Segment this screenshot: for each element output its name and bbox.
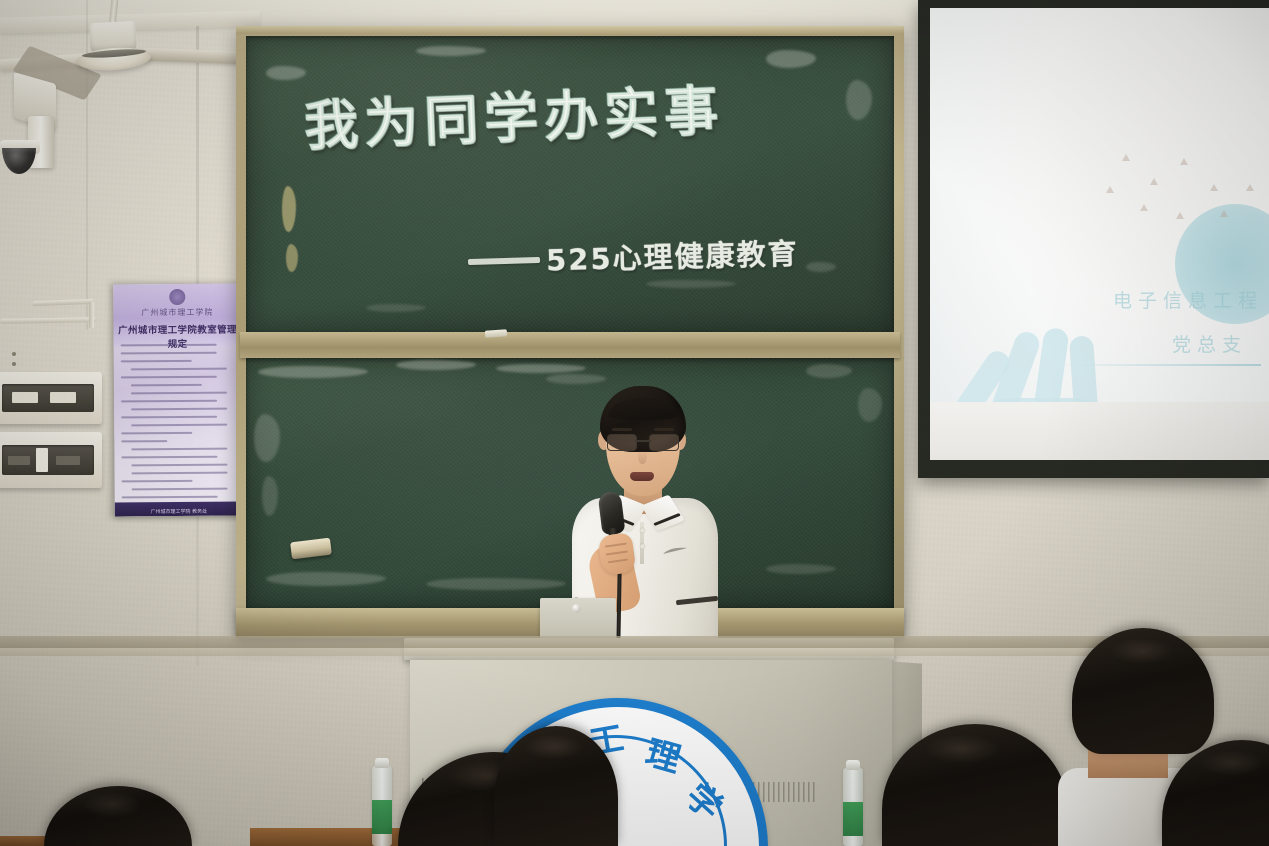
slide-bottom-band	[930, 402, 1269, 460]
podium-knob	[572, 604, 581, 613]
wall-poster-classroom-rules: 广州城市理工学院 广州城市理工学院教室管理规定 广州城市理工学院 教务处	[113, 284, 243, 517]
shirt-button	[640, 528, 645, 533]
blackboard-title-chalk: 我为同学办实事	[303, 66, 726, 161]
eyeglass-bridge	[635, 440, 651, 442]
blackboard-frame-top	[236, 26, 904, 34]
poster-school-name: 广州城市理工学院	[113, 307, 241, 319]
speaker-mouth	[630, 472, 654, 481]
blackboard-subtitle-chalk: 525心理健康教育	[545, 230, 799, 279]
breaker-switch	[50, 392, 76, 403]
electrical-panel-lower	[0, 432, 102, 488]
speaker-eyeglasses	[606, 434, 680, 449]
blackboard-middle-rail	[240, 332, 900, 358]
chalk-stick	[485, 329, 507, 338]
breaker-switch	[56, 456, 80, 465]
wall-dado-rail-lower	[0, 648, 1269, 656]
bottle-label	[843, 802, 863, 836]
eyeglass-lens-left	[607, 434, 637, 451]
breaker-switch	[8, 456, 30, 465]
projection-screen-frame: 电子信息工程 党总支	[918, 0, 1269, 478]
bottle-cap	[375, 758, 389, 768]
speaker-nose	[638, 450, 647, 464]
poster-body-text	[121, 344, 236, 499]
panel-indicator-dot	[12, 362, 16, 366]
electrical-panel-upper	[0, 372, 102, 424]
wall-dado-rail	[0, 636, 1269, 648]
shirt-brand-logo-icon	[662, 546, 688, 556]
bottle-label	[372, 800, 392, 834]
panel-indicator-dot	[12, 352, 16, 356]
main-breaker-switch	[36, 448, 48, 472]
projection-screen: 电子信息工程 党总支	[930, 8, 1269, 460]
eyeglass-lens-right	[649, 434, 679, 451]
breaker-switch	[12, 392, 38, 403]
slide-title-line1: 电子信息工程	[1113, 286, 1263, 313]
school-seal-icon	[169, 289, 185, 305]
bottle-cap	[846, 760, 860, 770]
slide-title-line2: 党总支	[1172, 330, 1247, 357]
student-desk	[250, 828, 420, 846]
photograph-scene: 广州城市理工学院 广州城市理工学院教室管理规定 广州城市理工学院 教务处	[0, 0, 1269, 846]
conduit-pipe-vertical	[89, 302, 94, 328]
poster-footer-text: 广州城市理工学院 教务处	[115, 508, 243, 516]
blackboard-upper-panel: 我为同学办实事 525心理健康教育	[246, 36, 894, 332]
wall-seam-secondary	[86, 0, 88, 330]
shirt-button	[640, 544, 645, 549]
